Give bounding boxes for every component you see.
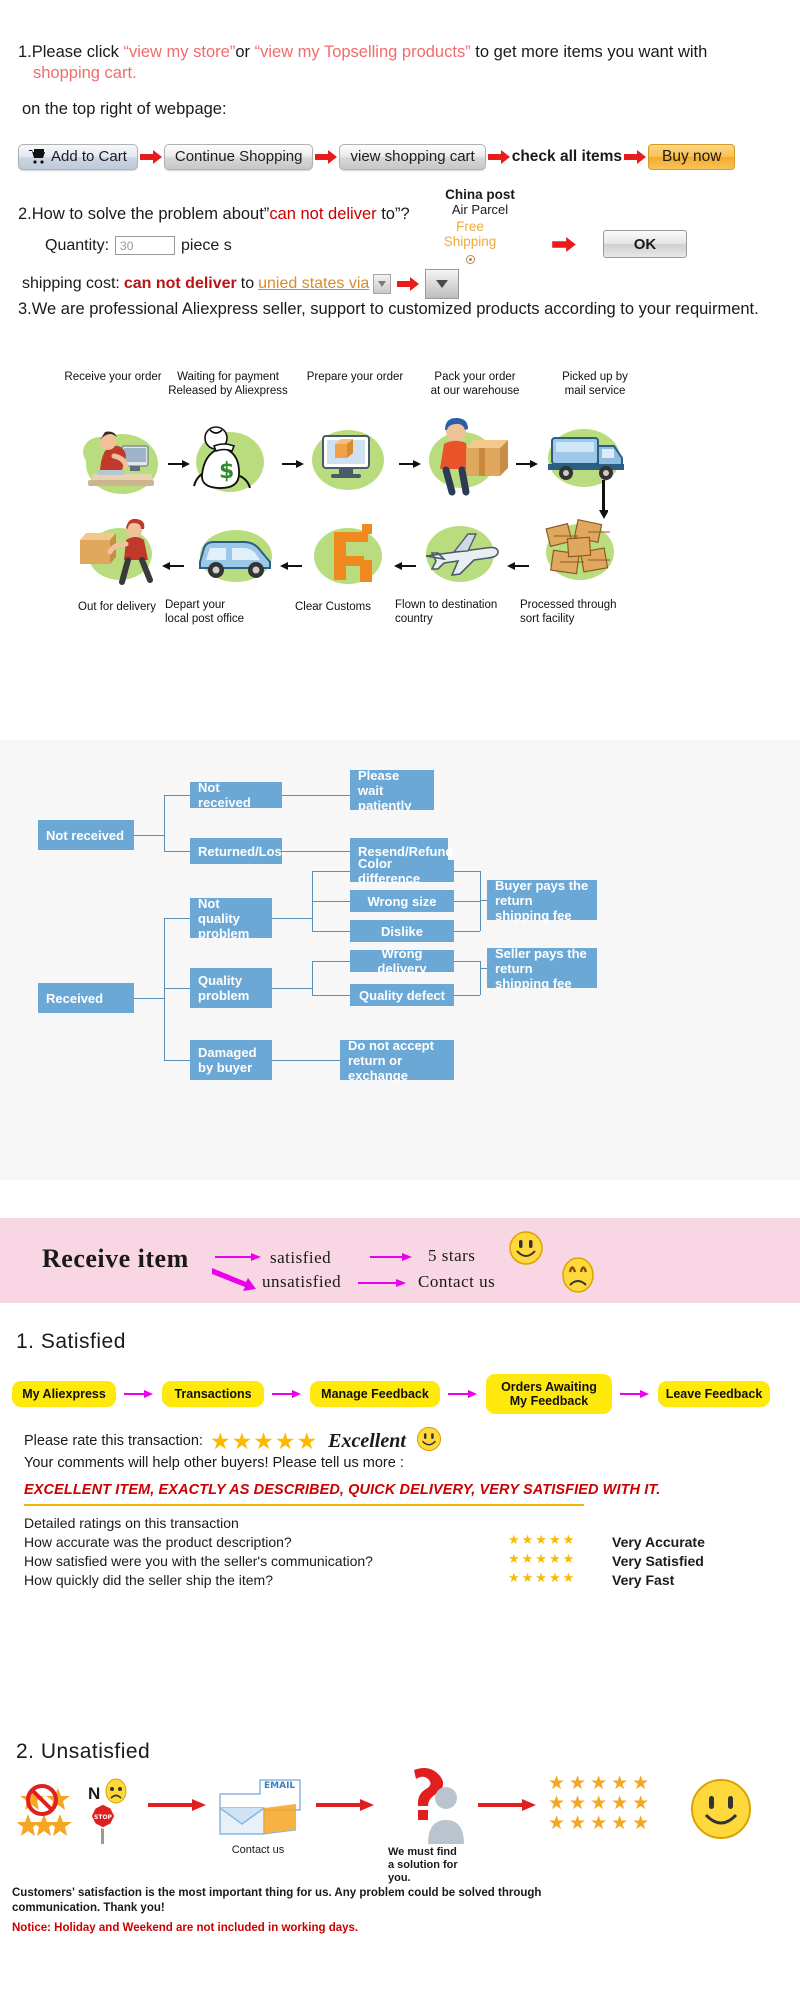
quantity-label: Quantity: [45, 237, 109, 255]
connector [480, 961, 481, 995]
unsatisfied-label: unsatisfied [262, 1272, 341, 1292]
chevron-down-icon [378, 281, 386, 287]
carrier-title: China post [445, 187, 515, 202]
flow-arrow-icon [168, 456, 190, 474]
instruction-section-2: 2.How to solve the problem about”can not… [0, 205, 800, 299]
arrow-right-icon [395, 277, 421, 291]
flow-caption: Clear Customs [278, 600, 388, 614]
arrow-right-icon [622, 150, 648, 164]
piece-label: piece s [181, 237, 232, 255]
country-dropdown-large[interactable] [425, 269, 459, 299]
contact-us-caption: Contact us [208, 1844, 308, 1857]
money-bag-icon: $ [188, 416, 272, 505]
shipping-confirm-row: Free Shipping OK [415, 219, 795, 269]
step-leave-feedback[interactable]: Leave Feedback [658, 1381, 770, 1407]
desk-computer-icon [78, 418, 164, 505]
connector [480, 968, 487, 969]
connector [454, 871, 480, 872]
feedback-step-flow: My Aliexpress Transactions Manage Feedba… [12, 1374, 800, 1414]
to-label: to [241, 275, 254, 293]
view-my-store-link[interactable]: “view my store” [123, 43, 235, 61]
instruction-line-1: 1.Please click “view my store”or “view m… [0, 0, 800, 63]
arrow-right-icon [148, 1798, 208, 1819]
star-rating-icon: ★★★★★ [508, 1532, 576, 1548]
flow-caption: Picked up bymail service [540, 370, 650, 398]
checkout-button-flow: Add to Cart Continue Shopping view shopp… [18, 144, 735, 170]
connector [282, 795, 350, 796]
flow-arrow-left-icon [278, 558, 302, 576]
connector [164, 918, 165, 1060]
country-link[interactable]: unied states via [258, 275, 369, 293]
five-stars-label: 5 stars [428, 1246, 475, 1266]
section2-title-a: 2.How to solve the problem about” [18, 205, 269, 223]
node-dislike: Dislike [350, 920, 454, 942]
shipping-label: Shipping [444, 234, 497, 249]
footer-notice: Notice: Holiday and Weekend are not incl… [12, 1922, 358, 1934]
star-rating-grid-icon: ★★★★★★★★★★★★★★★ [548, 1774, 653, 1834]
carrier-subtitle: Air Parcel [452, 202, 508, 217]
no-rating-icon [18, 1784, 78, 1845]
arrow-right-icon [138, 150, 164, 164]
connector [134, 998, 164, 999]
smiley-happy-icon [416, 1426, 442, 1457]
arrow-right-icon [551, 237, 577, 252]
connector [454, 961, 480, 962]
shipping-process-flow: Receive your order Waiting for paymentRe… [0, 370, 800, 710]
rating-value: Very Accurate [612, 1533, 705, 1552]
connector [164, 851, 190, 852]
satisfied-label: satisfied [270, 1248, 331, 1268]
step-manage-feedback[interactable]: Manage Feedback [310, 1381, 440, 1407]
connector [312, 931, 350, 932]
svg-text:$: $ [219, 459, 234, 484]
flow-caption: Pack your orderat our warehouse [415, 370, 535, 398]
footer-line-2: communication. Thank you! [12, 1901, 165, 1916]
rating-value: Very Fast [612, 1571, 674, 1590]
connector [164, 988, 190, 989]
view-shopping-cart-label: view shopping cart [350, 148, 474, 165]
connector [454, 995, 480, 996]
node-received-root: Received [38, 983, 134, 1013]
arrow-right-icon [316, 1798, 376, 1819]
connector [272, 1060, 340, 1061]
star-rating-icon: ★★★★★ [508, 1570, 576, 1586]
instruction-line-1b: shopping cart. [0, 63, 800, 84]
connector [164, 918, 190, 919]
instruction-tail: to get more items you want with [471, 43, 708, 61]
comment-text: EXCELLENT ITEM, EXACTLY AS DESCRIBED, QU… [24, 1482, 660, 1498]
flow-arrow-icon [399, 456, 421, 474]
connector [480, 900, 487, 901]
magenta-arrow-icon [370, 1250, 414, 1268]
connector [454, 901, 480, 902]
star-rating-icon[interactable]: ★★★★★ [210, 1428, 318, 1455]
node-not-received-root: Not received [38, 820, 134, 850]
smiley-happy-icon [690, 1778, 752, 1845]
smiley-sad-icon [560, 1256, 596, 1299]
flow-caption: Prepare your order [295, 370, 415, 384]
free-shipping-radio[interactable] [415, 251, 525, 269]
question-person-icon [388, 1766, 478, 1851]
monitor-box-icon [305, 418, 391, 503]
connector [312, 961, 313, 995]
node-seller-pays: Seller pays thereturn shipping fee [487, 948, 597, 988]
footer-line-1: Customers' satisfaction is the most impo… [12, 1886, 541, 1901]
connector [164, 795, 165, 851]
arrow-right-icon [313, 150, 339, 164]
node-color-difference: Color difference [350, 860, 454, 882]
free-shipping-label: Free Shipping [415, 219, 525, 249]
instruction-section-1: 1.Please click “view my store”or “view m… [0, 0, 800, 119]
flow-arrow-left-icon [505, 558, 529, 576]
instruction-section-3: 3.We are professional Aliexpress seller,… [0, 300, 800, 319]
country-dropdown-small[interactable] [373, 274, 391, 294]
worker-package-icon [422, 414, 512, 505]
connector [312, 871, 350, 872]
section3-title: 3.We are professional Aliexpress seller,… [0, 300, 800, 319]
connector [164, 795, 190, 796]
node-returned-lost: Returned/Lost [190, 838, 282, 864]
magenta-arrow-icon [440, 1389, 486, 1399]
node-not-quality-problem: Not qualityproblem [190, 898, 272, 938]
flow-caption: Waiting for paymentReleased by Aliexpres… [163, 370, 293, 398]
rating-value: Very Satisfied [612, 1552, 704, 1571]
instruction-lead: 1.Please click [18, 43, 123, 61]
flow-arrow-icon [516, 456, 538, 474]
flow-caption: Depart yourlocal post office [165, 598, 280, 626]
svg-text:EMAIL: EMAIL [264, 1781, 295, 1791]
flow-arrow-icon [282, 456, 304, 474]
node-please-wait: Please waitpatiently [350, 770, 434, 810]
solution-caption: We must finda solution foryou. [388, 1846, 508, 1885]
magenta-arrow-icon [358, 1276, 408, 1294]
shipping-cost-label: shipping cost: [22, 275, 120, 293]
flow-caption: Flown to destinationcountry [395, 598, 525, 626]
flow-arrow-left-icon [160, 558, 184, 576]
buy-now-button[interactable]: Buy now [648, 144, 735, 170]
flow-caption: Processed throughsort facility [520, 598, 660, 626]
rate-transaction-row: Please rate this transaction: [24, 1432, 203, 1451]
connector [134, 835, 164, 836]
connector [272, 988, 312, 989]
magenta-arrow-icon [212, 1266, 262, 1297]
connector [312, 995, 350, 996]
unsatisfied-heading: 2. Unsatisfied [0, 1740, 800, 1764]
ok-label: OK [634, 236, 657, 253]
buy-now-label: Buy now [662, 148, 721, 166]
section2-title-red: can not deliver [269, 205, 376, 223]
no-label: N [88, 1784, 100, 1804]
node-quality-defect: Quality defect [350, 984, 454, 1006]
rating-question: How satisfied were you with the seller's… [24, 1552, 373, 1571]
email-envelope-icon: EMAIL [212, 1770, 308, 1845]
section2-title-b: to”? [377, 205, 410, 223]
node-do-not-accept: Do not acceptreturn or exchange [340, 1040, 454, 1080]
rating-stars-row: ★★★★★ Excellent [210, 1426, 442, 1457]
node-wrong-size: Wrong size [350, 890, 454, 912]
check-all-items-label: check all items [512, 148, 622, 166]
arrow-right-icon [486, 150, 512, 164]
receive-item-title: Receive item [42, 1244, 189, 1274]
step-orders-awaiting-my-feedback[interactable]: Orders AwaitingMy Feedback [486, 1374, 612, 1414]
shopping-cart-icon [29, 149, 46, 164]
flow-arrow-left-icon [392, 558, 416, 576]
magenta-arrow-icon [612, 1389, 658, 1399]
satisfied-heading: 1. Satisfied [0, 1330, 800, 1354]
receive-item-banner: Receive item satisfied unsatisfied 5 sta… [0, 1218, 800, 1303]
truck-icon [540, 418, 628, 501]
contact-us-label: Contact us [418, 1272, 495, 1292]
quantity-input[interactable] [115, 236, 175, 255]
airplane-icon [412, 520, 508, 597]
node-buyer-pays: Buyer pays thereturn shipping fee [487, 880, 597, 920]
rating-question: How accurate was the product description… [24, 1533, 292, 1552]
step-my-aliexpress[interactable]: My Aliexpress [12, 1381, 116, 1407]
comments-label: Your comments will help other buyers! Pl… [24, 1454, 404, 1473]
step-transactions[interactable]: Transactions [162, 1381, 264, 1407]
connector [164, 1060, 190, 1061]
view-topselling-link[interactable]: “view my Topselling products” [255, 43, 471, 61]
view-shopping-cart-button[interactable]: view shopping cart [339, 144, 485, 170]
flow-caption: Out for delivery [62, 600, 172, 614]
smiley-happy-icon [508, 1230, 544, 1271]
instruction-line-2: on the top right of webpage: [0, 84, 800, 119]
rate-transaction-label: Please rate this transaction: [24, 1433, 203, 1449]
svg-text:STOP: STOP [94, 1814, 113, 1821]
node-quality-problem: Qualityproblem [190, 968, 272, 1008]
van-icon [188, 522, 284, 597]
carrier-info: China post Air Parcel [415, 187, 545, 217]
courier-running-icon [70, 518, 166, 599]
connector [480, 871, 481, 931]
arrow-right-icon [478, 1798, 538, 1819]
customs-icon [300, 516, 396, 601]
continue-shopping-label: Continue Shopping [175, 148, 303, 165]
instruction-mid: or [235, 43, 254, 61]
magenta-arrow-icon [116, 1389, 162, 1399]
node-not-received-child: Not received [190, 782, 282, 808]
free-label: Free [456, 219, 484, 234]
unsatisfied-section: 2. Unsatisfied N STOP EMAIL [0, 1740, 800, 1764]
add-to-cart-button[interactable]: Add to Cart [18, 144, 138, 170]
magenta-arrow-icon [264, 1389, 310, 1399]
connector [312, 961, 350, 962]
connector [272, 918, 312, 919]
node-wrong-delivery: Wrong delivery [350, 950, 454, 972]
detailed-ratings-heading: Detailed ratings on this transaction [24, 1514, 239, 1533]
chevron-down-icon [436, 280, 448, 288]
node-damaged-by-buyer: Damagedby buyer [190, 1040, 272, 1080]
add-to-cart-label: Add to Cart [51, 148, 127, 165]
rating-question: How quickly did the seller ship the item… [24, 1571, 273, 1590]
parcels-icon [530, 510, 630, 599]
connector [312, 901, 350, 902]
stop-sign-icon: STOP [86, 1802, 120, 1849]
connector [282, 851, 350, 852]
comment-underline [24, 1504, 584, 1506]
returns-policy-flowchart: Not received Not received Please waitpat… [0, 740, 800, 1180]
star-rating-icon: ★★★★★ [508, 1551, 576, 1567]
flow-caption: Receive your order [58, 370, 168, 384]
connector [454, 931, 480, 932]
satisfied-section: 1. Satisfied My Aliexpress Transactions … [0, 1330, 800, 1354]
continue-shopping-button[interactable]: Continue Shopping [164, 144, 314, 170]
cannot-deliver-text: can not deliver [124, 275, 237, 293]
rating-word: Excellent [328, 1430, 406, 1453]
ok-button[interactable]: OK [603, 230, 687, 258]
